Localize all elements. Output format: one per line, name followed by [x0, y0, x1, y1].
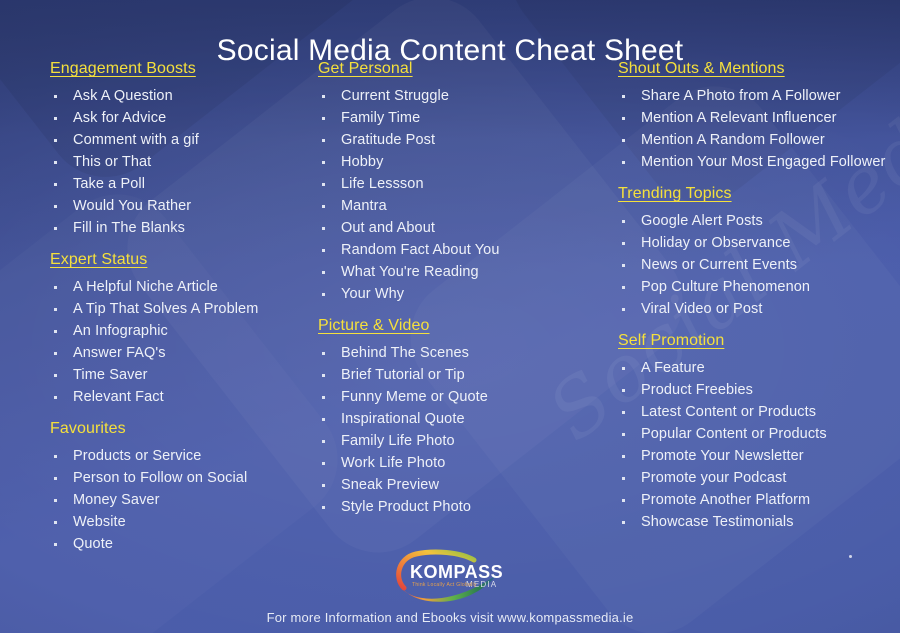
list-item-label: Ask A Question — [73, 88, 173, 104]
list-item: Showcase Testimonials — [618, 511, 900, 533]
bullet-icon — [322, 95, 325, 98]
list-item: Funny Meme or Quote — [318, 386, 600, 408]
list-item: Family Time — [318, 107, 600, 129]
list-item-label: Brief Tutorial or Tip — [341, 367, 465, 383]
list-item-label: Hobby — [341, 154, 383, 170]
section: Shout Outs & MentionsShare A Photo from … — [618, 60, 900, 173]
bullet-icon — [54, 477, 57, 480]
list-item-label: A Feature — [641, 360, 705, 376]
bullet-icon — [54, 455, 57, 458]
svg-text:KOMPASS: KOMPASS — [410, 562, 503, 582]
list-item: Products or Service — [50, 445, 310, 467]
bullet-icon — [322, 139, 325, 142]
section: Get PersonalCurrent StruggleFamily TimeG… — [318, 60, 600, 305]
list-item-label: Comment with a gif — [73, 132, 199, 148]
list-item-label: Promote Your Newsletter — [641, 448, 804, 464]
list-item-label: Current Struggle — [341, 88, 449, 104]
bullet-icon — [54, 521, 57, 524]
section-heading: Picture & Video — [318, 317, 600, 335]
column-2: Get PersonalCurrent StruggleFamily TimeG… — [310, 60, 600, 567]
bullet-icon — [622, 389, 625, 392]
list-item: Latest Content or Products — [618, 401, 900, 423]
list-item-label: Google Alert Posts — [641, 213, 763, 229]
list-item: Fill in The Blanks — [50, 217, 310, 239]
list-item-label: Latest Content or Products — [641, 404, 816, 420]
list-item: Take a Poll — [50, 173, 310, 195]
bullet-icon — [622, 455, 625, 458]
bullet-icon — [54, 396, 57, 399]
bullet-icon — [322, 205, 325, 208]
list-item-label: Showcase Testimonials — [641, 514, 794, 530]
list-item-label: Share A Photo from A Follower — [641, 88, 841, 104]
section-item-list: Google Alert PostsHoliday or ObservanceN… — [618, 210, 900, 320]
bullet-icon — [622, 161, 625, 164]
list-item-label: Family Time — [341, 110, 420, 126]
list-item: Relevant Fact — [50, 386, 310, 408]
list-item-label: Gratitude Post — [341, 132, 435, 148]
list-item: Current Struggle — [318, 85, 600, 107]
bullet-icon — [622, 286, 625, 289]
footer-note: For more Information and Ebooks visit ww… — [0, 610, 900, 625]
bullet-icon — [622, 139, 625, 142]
list-item-label: Promote your Podcast — [641, 470, 786, 486]
list-item-label: Relevant Fact — [73, 389, 164, 405]
bullet-icon — [54, 205, 57, 208]
section-heading: Trending Topics — [618, 185, 900, 203]
list-item: This or That — [50, 151, 310, 173]
section-item-list: A Helpful Niche ArticleA Tip That Solves… — [50, 276, 310, 408]
bullet-icon — [322, 374, 325, 377]
column-3: Shout Outs & MentionsShare A Photo from … — [600, 60, 900, 567]
bullet-icon — [322, 227, 325, 230]
list-item: Mantra — [318, 195, 600, 217]
list-item: Inspirational Quote — [318, 408, 600, 430]
list-item-label: Website — [73, 514, 126, 530]
list-item: Sneak Preview — [318, 474, 600, 496]
list-item: Behind The Scenes — [318, 342, 600, 364]
list-item: Holiday or Observance — [618, 232, 900, 254]
list-item-label: Answer FAQ's — [73, 345, 166, 361]
list-item: Random Fact About You — [318, 239, 600, 261]
list-item-label: Family Life Photo — [341, 433, 455, 449]
section-heading: Self Promotion — [618, 332, 900, 350]
bullet-icon — [622, 220, 625, 223]
list-item-label: Ask for Advice — [73, 110, 166, 126]
list-item-label: A Helpful Niche Article — [73, 279, 218, 295]
list-item-label: Funny Meme or Quote — [341, 389, 488, 405]
list-item: Gratitude Post — [318, 129, 600, 151]
bullet-icon — [622, 117, 625, 120]
list-item: Comment with a gif — [50, 129, 310, 151]
bullet-icon — [54, 161, 57, 164]
bullet-icon — [322, 293, 325, 296]
list-item: Mention Your Most Engaged Follower — [618, 151, 900, 173]
bullet-icon — [54, 117, 57, 120]
bullet-icon — [54, 139, 57, 142]
list-item-label: Life Lessson — [341, 176, 424, 192]
list-item-label: Style Product Photo — [341, 499, 471, 515]
list-item-label: News or Current Events — [641, 257, 797, 273]
list-item-label: Out and About — [341, 220, 435, 236]
list-item-label: Popular Content or Products — [641, 426, 827, 442]
list-item-label: Your Why — [341, 286, 404, 302]
list-item: Mention A Random Follower — [618, 129, 900, 151]
list-item-label: Mention A Random Follower — [641, 132, 825, 148]
list-item-label: Random Fact About You — [341, 242, 500, 258]
bullet-icon — [54, 227, 57, 230]
section-heading: Favourites — [50, 420, 310, 438]
column-1: Engagement BoostsAsk A QuestionAsk for A… — [0, 60, 310, 567]
section-heading: Shout Outs & Mentions — [618, 60, 900, 78]
list-item: Pop Culture Phenomenon — [618, 276, 900, 298]
list-item-label: An Infographic — [73, 323, 168, 339]
list-item: Ask for Advice — [50, 107, 310, 129]
section-item-list: Ask A QuestionAsk for AdviceComment with… — [50, 85, 310, 239]
list-item: Popular Content or Products — [618, 423, 900, 445]
list-item-label: A Tip That Solves A Problem — [73, 301, 258, 317]
bullet-icon — [622, 95, 625, 98]
list-item-label: What You're Reading — [341, 264, 479, 280]
bullet-icon — [322, 484, 325, 487]
section: Self PromotionA FeatureProduct FreebiesL… — [618, 332, 900, 533]
list-item-label: Mention Your Most Engaged Follower — [641, 154, 885, 170]
bullet-icon — [54, 308, 57, 311]
list-item: Viral Video or Post — [618, 298, 900, 320]
list-item: Out and About — [318, 217, 600, 239]
bullet-icon — [322, 249, 325, 252]
list-item-label: Work Life Photo — [341, 455, 445, 471]
bullet-icon — [54, 352, 57, 355]
bullet-icon — [322, 506, 325, 509]
list-item-label: Sneak Preview — [341, 477, 439, 493]
list-item-label: Mention A Relevant Influencer — [641, 110, 837, 126]
bullet-icon — [322, 271, 325, 274]
bullet-icon — [622, 411, 625, 414]
bullet-icon — [322, 117, 325, 120]
bullet-icon — [54, 499, 57, 502]
section-heading: Engagement Boosts — [50, 60, 310, 78]
list-item: Google Alert Posts — [618, 210, 900, 232]
bullet-icon — [322, 396, 325, 399]
list-item-label: Pop Culture Phenomenon — [641, 279, 810, 295]
list-item-label: Holiday or Observance — [641, 235, 791, 251]
kompass-media-logo-icon: KOMPASS MEDIA Think Locally Act Globally — [390, 548, 510, 604]
bullet-icon — [54, 374, 57, 377]
list-item: A Feature — [618, 357, 900, 379]
svg-text:Think Locally Act Globally: Think Locally Act Globally — [412, 582, 477, 588]
bullet-icon — [322, 440, 325, 443]
list-item: Answer FAQ's — [50, 342, 310, 364]
list-item: A Tip That Solves A Problem — [50, 298, 310, 320]
kompass-media-logo: KOMPASS MEDIA Think Locally Act Globally — [390, 548, 510, 604]
section: Trending TopicsGoogle Alert PostsHoliday… — [618, 185, 900, 320]
content-columns: Engagement BoostsAsk A QuestionAsk for A… — [0, 60, 900, 567]
bullet-icon — [54, 543, 57, 546]
bullet-icon — [322, 183, 325, 186]
bullet-icon — [622, 242, 625, 245]
list-item: Product Freebies — [618, 379, 900, 401]
list-item: What You're Reading — [318, 261, 600, 283]
list-item-label: Time Saver — [73, 367, 148, 383]
bullet-icon — [622, 477, 625, 480]
list-item: Money Saver — [50, 489, 310, 511]
list-item-label: Viral Video or Post — [641, 301, 762, 317]
section-item-list: Current StruggleFamily TimeGratitude Pos… — [318, 85, 600, 305]
list-item-label: Inspirational Quote — [341, 411, 465, 427]
list-item-label: Money Saver — [73, 492, 160, 508]
list-item: Ask A Question — [50, 85, 310, 107]
list-item: Promote Your Newsletter — [618, 445, 900, 467]
section-heading: Get Personal — [318, 60, 600, 78]
bullet-icon — [54, 95, 57, 98]
list-item: Time Saver — [50, 364, 310, 386]
list-item-label: Mantra — [341, 198, 387, 214]
list-item: Family Life Photo — [318, 430, 600, 452]
bullet-icon — [622, 521, 625, 524]
list-item: Mention A Relevant Influencer — [618, 107, 900, 129]
section-item-list: A FeatureProduct FreebiesLatest Content … — [618, 357, 900, 533]
bullet-icon — [322, 462, 325, 465]
list-item: Website — [50, 511, 310, 533]
list-item-label: Person to Follow on Social — [73, 470, 247, 486]
list-item: Hobby — [318, 151, 600, 173]
section: Expert StatusA Helpful Niche ArticleA Ti… — [50, 251, 310, 408]
bullet-icon — [322, 161, 325, 164]
bullet-icon — [622, 367, 625, 370]
bullet-icon — [622, 499, 625, 502]
list-item-label: Would You Rather — [73, 198, 191, 214]
bullet-icon — [54, 286, 57, 289]
list-item-label: This or That — [73, 154, 151, 170]
bullet-icon — [622, 433, 625, 436]
section-item-list: Products or ServicePerson to Follow on S… — [50, 445, 310, 555]
bullet-icon — [622, 308, 625, 311]
section: FavouritesProducts or ServicePerson to F… — [50, 420, 310, 555]
list-item: Your Why — [318, 283, 600, 305]
section-item-list: Share A Photo from A FollowerMention A R… — [618, 85, 900, 173]
list-item: Work Life Photo — [318, 452, 600, 474]
list-item: Promote your Podcast — [618, 467, 900, 489]
list-item: A Helpful Niche Article — [50, 276, 310, 298]
list-item-label: Behind The Scenes — [341, 345, 469, 361]
list-item-label: Take a Poll — [73, 176, 145, 192]
list-item: Person to Follow on Social — [50, 467, 310, 489]
list-item: Style Product Photo — [318, 496, 600, 518]
list-item: Promote Another Platform — [618, 489, 900, 511]
footer: KOMPASS MEDIA Think Locally Act Globally… — [0, 548, 900, 625]
list-item-label: Product Freebies — [641, 382, 753, 398]
list-item: Brief Tutorial or Tip — [318, 364, 600, 386]
bullet-icon — [322, 418, 325, 421]
bullet-icon — [54, 183, 57, 186]
section-heading: Expert Status — [50, 251, 310, 269]
list-item: Would You Rather — [50, 195, 310, 217]
list-item: Life Lessson — [318, 173, 600, 195]
list-item: An Infographic — [50, 320, 310, 342]
list-item: News or Current Events — [618, 254, 900, 276]
bullet-icon — [54, 330, 57, 333]
list-item: Share A Photo from A Follower — [618, 85, 900, 107]
list-item-label: Fill in The Blanks — [73, 220, 185, 236]
section: Picture & VideoBehind The ScenesBrief Tu… — [318, 317, 600, 518]
bullet-icon — [322, 352, 325, 355]
section: Engagement BoostsAsk A QuestionAsk for A… — [50, 60, 310, 239]
cheat-sheet-canvas: Social Media Social Media Content Cheat … — [0, 0, 900, 633]
list-item-label: Promote Another Platform — [641, 492, 810, 508]
section-item-list: Behind The ScenesBrief Tutorial or TipFu… — [318, 342, 600, 518]
bullet-icon — [622, 264, 625, 267]
list-item-label: Products or Service — [73, 448, 201, 464]
